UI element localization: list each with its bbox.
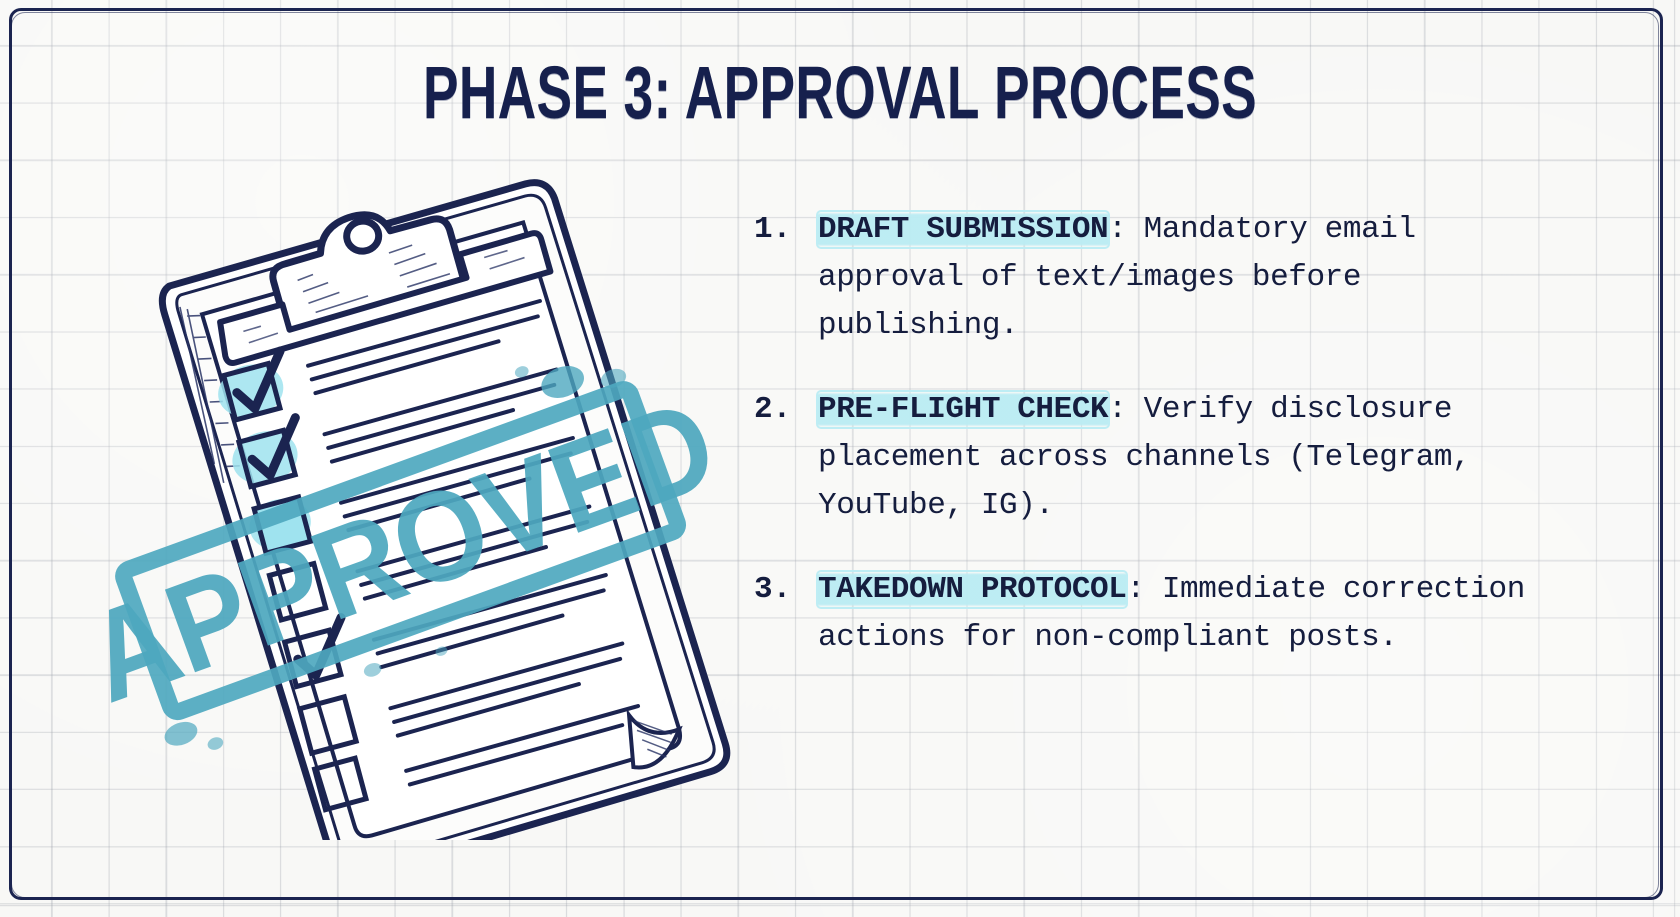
list-item-body: TAKEDOWN PROTOCOL: Immediate correction … <box>818 566 1546 662</box>
list-item: 3. TAKEDOWN PROTOCOL: Immediate correcti… <box>746 566 1546 662</box>
page-title: PHASE 3: APPROVAL PROCESS <box>235 50 1445 135</box>
stamp-splatter <box>161 718 200 750</box>
list-item-number: 1. <box>754 206 812 254</box>
stamp-splatter <box>206 735 225 752</box>
stamp-splatter <box>434 645 448 658</box>
list-item-colon: : <box>1108 392 1126 427</box>
list-item-label: DRAFT SUBMISSION <box>818 212 1108 247</box>
list-item-colon: : <box>1126 572 1144 607</box>
list-item-label: PRE-FLIGHT CHECK <box>818 392 1108 427</box>
stamp-splatter <box>513 364 530 379</box>
list-item-number: 2. <box>754 386 812 434</box>
steps-list: 1. DRAFT SUBMISSION: Mandatory email app… <box>746 206 1546 662</box>
stamp-splatter <box>362 661 383 679</box>
list-item-number: 3. <box>754 566 812 614</box>
list-item-colon: : <box>1108 212 1126 247</box>
list-item-body: PRE-FLIGHT CHECK: Verify disclosure plac… <box>818 386 1546 530</box>
list-item: 2. PRE-FLIGHT CHECK: Verify disclosure p… <box>746 386 1546 530</box>
list-item-body: DRAFT SUBMISSION: Mandatory email approv… <box>818 206 1546 350</box>
slide-canvas: PHASE 3: APPROVAL PROCESS <box>0 0 1680 917</box>
list-item: 1. DRAFT SUBMISSION: Mandatory email app… <box>746 206 1546 350</box>
list-item-label: TAKEDOWN PROTOCOL <box>818 572 1126 607</box>
